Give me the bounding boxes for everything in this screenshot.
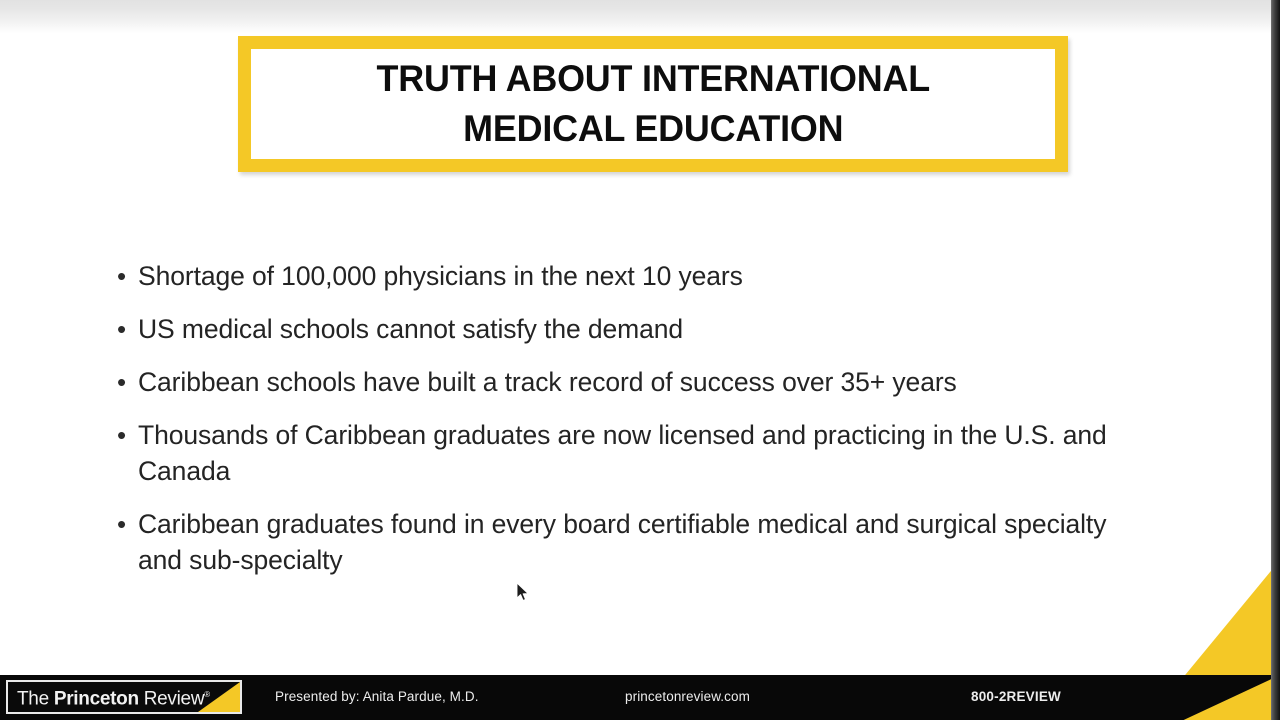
list-item: • Shortage of 100,000 physicians in the … — [114, 258, 1154, 294]
registered-trademark-icon: ® — [204, 690, 210, 699]
bullet-icon: • — [114, 506, 138, 542]
slide-title-box: TRUTH ABOUT INTERNATIONAL MEDICAL EDUCAT… — [238, 36, 1068, 172]
bullet-icon: • — [114, 364, 138, 400]
list-item-text: US medical schools cannot satisfy the de… — [138, 311, 1154, 347]
footer-phone-number: 800-2REVIEW — [971, 688, 1061, 706]
list-item: • Caribbean schools have built a track r… — [114, 364, 1154, 400]
list-item: • Thousands of Caribbean graduates are n… — [114, 417, 1154, 489]
footer-website-url[interactable]: princetonreview.com — [625, 688, 750, 706]
bullet-list: • Shortage of 100,000 physicians in the … — [114, 258, 1154, 595]
bullet-icon: • — [114, 311, 138, 347]
list-item: • Caribbean graduates found in every boa… — [114, 506, 1154, 578]
list-item-text: Shortage of 100,000 physicians in the ne… — [138, 258, 1154, 294]
list-item-text: Caribbean graduates found in every board… — [138, 506, 1154, 578]
logo-wordmark: The Princeton Review® — [8, 685, 210, 708]
list-item-text: Thousands of Caribbean graduates are now… — [138, 417, 1154, 489]
logo-word-review: Review — [139, 689, 204, 710]
page-title: TRUTH ABOUT INTERNATIONAL MEDICAL EDUCAT… — [376, 54, 929, 154]
princeton-review-logo: The Princeton Review® — [6, 680, 242, 714]
logo-word-princeton: Princeton — [54, 689, 139, 710]
footer-wedge-decoration — [1148, 675, 1280, 720]
bullet-icon: • — [114, 417, 138, 453]
slide-footer: The Princeton Review® Presented by: Anit… — [0, 675, 1280, 720]
list-item: • US medical schools cannot satisfy the … — [114, 311, 1154, 347]
footer-presenter-text: Presented by: Anita Pardue, M.D. — [275, 688, 479, 706]
logo-word-the: The — [17, 689, 54, 710]
frame-right-edge — [1272, 0, 1280, 720]
presentation-slide: TRUTH ABOUT INTERNATIONAL MEDICAL EDUCAT… — [0, 0, 1280, 720]
top-gradient-band — [0, 0, 1280, 34]
list-item-text: Caribbean schools have built a track rec… — [138, 364, 1154, 400]
bullet-icon: • — [114, 258, 138, 294]
